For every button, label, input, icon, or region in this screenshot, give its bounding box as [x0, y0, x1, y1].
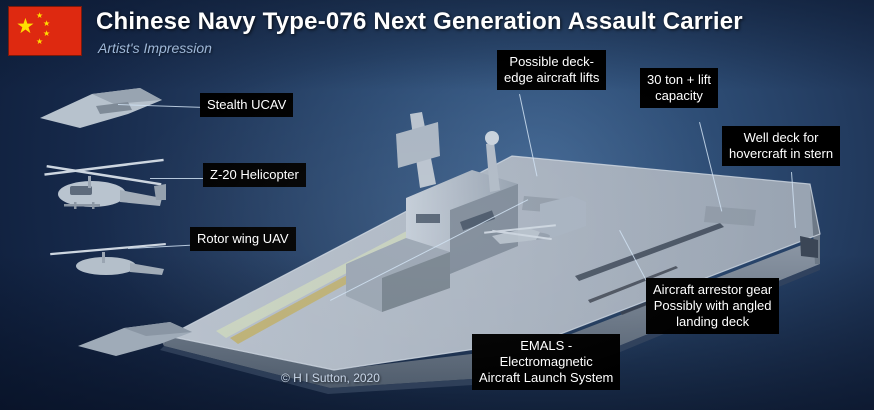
- credit-text: © H I Sutton, 2020: [281, 371, 380, 385]
- label-lift-capacity[interactable]: 30 ton + lift capacity: [640, 68, 718, 108]
- label-emals[interactable]: EMALS - Electromagnetic Aircraft Launch …: [472, 334, 620, 390]
- flag-small-star-4: ★: [36, 38, 43, 46]
- radar-dome: [485, 131, 499, 145]
- z20-helicopter-illustration: [34, 156, 174, 222]
- stealth-ucav-lower-illustration: [76, 316, 196, 364]
- label-stealth-ucav[interactable]: Stealth UCAV: [200, 93, 293, 117]
- label-arrestor-gear[interactable]: Aircraft arrestor gear Possibly with ang…: [646, 278, 779, 334]
- rotor-wing-uav-illustration: [44, 232, 174, 288]
- flag-small-star-2: ★: [43, 20, 50, 28]
- label-z20-helicopter[interactable]: Z-20 Helicopter: [203, 163, 306, 187]
- page-subtitle: Artist's Impression: [98, 40, 212, 56]
- island-window-1: [416, 214, 440, 223]
- leader-line-z20: [150, 178, 204, 179]
- label-deck-edge-lifts[interactable]: Possible deck- edge aircraft lifts: [497, 50, 606, 90]
- label-well-deck[interactable]: Well deck for hovercraft in stern: [722, 126, 840, 166]
- flag-small-star-3: ★: [43, 30, 50, 38]
- flag-big-star: ★: [16, 16, 35, 37]
- label-rotor-wing-uav[interactable]: Rotor wing UAV: [190, 227, 296, 251]
- flag-of-china: ★ ★ ★ ★ ★: [8, 6, 82, 56]
- diagram-canvas: ★ ★ ★ ★ ★ Chinese Navy Type-076 Next Gen…: [0, 0, 874, 410]
- mast-panel: [396, 122, 440, 168]
- page-title: Chinese Navy Type-076 Next Generation As…: [96, 8, 743, 36]
- stealth-ucav-illustration: [36, 84, 166, 140]
